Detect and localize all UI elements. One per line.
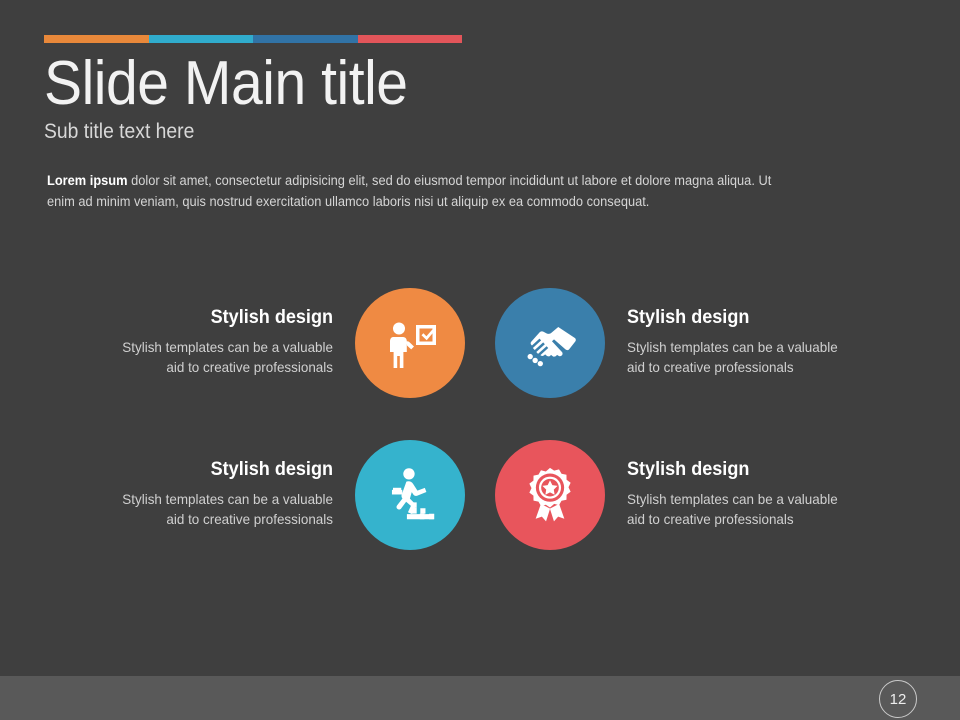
feature-icon-circle-1[interactable] — [355, 288, 465, 398]
feature-description-3: Stylish templates can be a valuable aid … — [120, 489, 333, 529]
slide-title: Slide Main title — [44, 49, 408, 119]
feature-title-3: Stylish design — [122, 459, 333, 480]
businessman-stairs-icon — [377, 462, 443, 528]
feature-item-1[interactable]: Stylish design Stylish templates can be … — [110, 288, 465, 398]
feature-text-1: Stylish design Stylish templates can be … — [111, 288, 355, 377]
feature-item-2[interactable]: Stylish design Stylish templates can be … — [495, 288, 840, 398]
feature-item-4[interactable]: Stylish design Stylish templates can be … — [495, 440, 840, 550]
slide-footer: 12 — [0, 676, 960, 720]
feature-row: Stylish design Stylish templates can be … — [0, 440, 960, 592]
accent-segment-blue — [253, 35, 358, 43]
feature-grid: Stylish design Stylish templates can be … — [0, 288, 960, 592]
body-lead-text: Lorem ipsum — [47, 173, 128, 188]
feature-icon-circle-4[interactable] — [495, 440, 605, 550]
feature-description-1: Stylish templates can be a valuable aid … — [120, 337, 333, 377]
handshake-icon — [517, 310, 583, 376]
accent-bar — [44, 35, 462, 43]
feature-title-1: Stylish design — [122, 307, 333, 328]
feature-text-4: Stylish design Stylish templates can be … — [605, 440, 849, 529]
feature-item-3[interactable]: Stylish design Stylish templates can be … — [110, 440, 465, 550]
accent-segment-red — [358, 35, 463, 43]
feature-icon-circle-2[interactable] — [495, 288, 605, 398]
feature-title-2: Stylish design — [627, 307, 838, 328]
feature-row: Stylish design Stylish templates can be … — [0, 288, 960, 440]
presenter-checklist-icon — [378, 311, 442, 375]
body-rest-text: dolor sit amet, consectetur adipisicing … — [47, 173, 771, 209]
feature-text-2: Stylish design Stylish templates can be … — [605, 288, 849, 377]
slide-canvas: Slide Main title Sub title text here Lor… — [0, 0, 960, 720]
feature-text-3: Stylish design Stylish templates can be … — [111, 440, 355, 529]
feature-icon-circle-3[interactable] — [355, 440, 465, 550]
accent-segment-teal — [149, 35, 254, 43]
accent-segment-orange — [44, 35, 149, 43]
feature-description-2: Stylish templates can be a valuable aid … — [627, 337, 840, 377]
feature-description-4: Stylish templates can be a valuable aid … — [627, 489, 840, 529]
feature-title-4: Stylish design — [627, 459, 838, 480]
page-number-badge: 12 — [879, 680, 917, 718]
award-ribbon-icon — [519, 464, 581, 526]
body-paragraph: Lorem ipsum dolor sit amet, consectetur … — [47, 170, 798, 212]
slide-subtitle: Sub title text here — [44, 119, 194, 145]
